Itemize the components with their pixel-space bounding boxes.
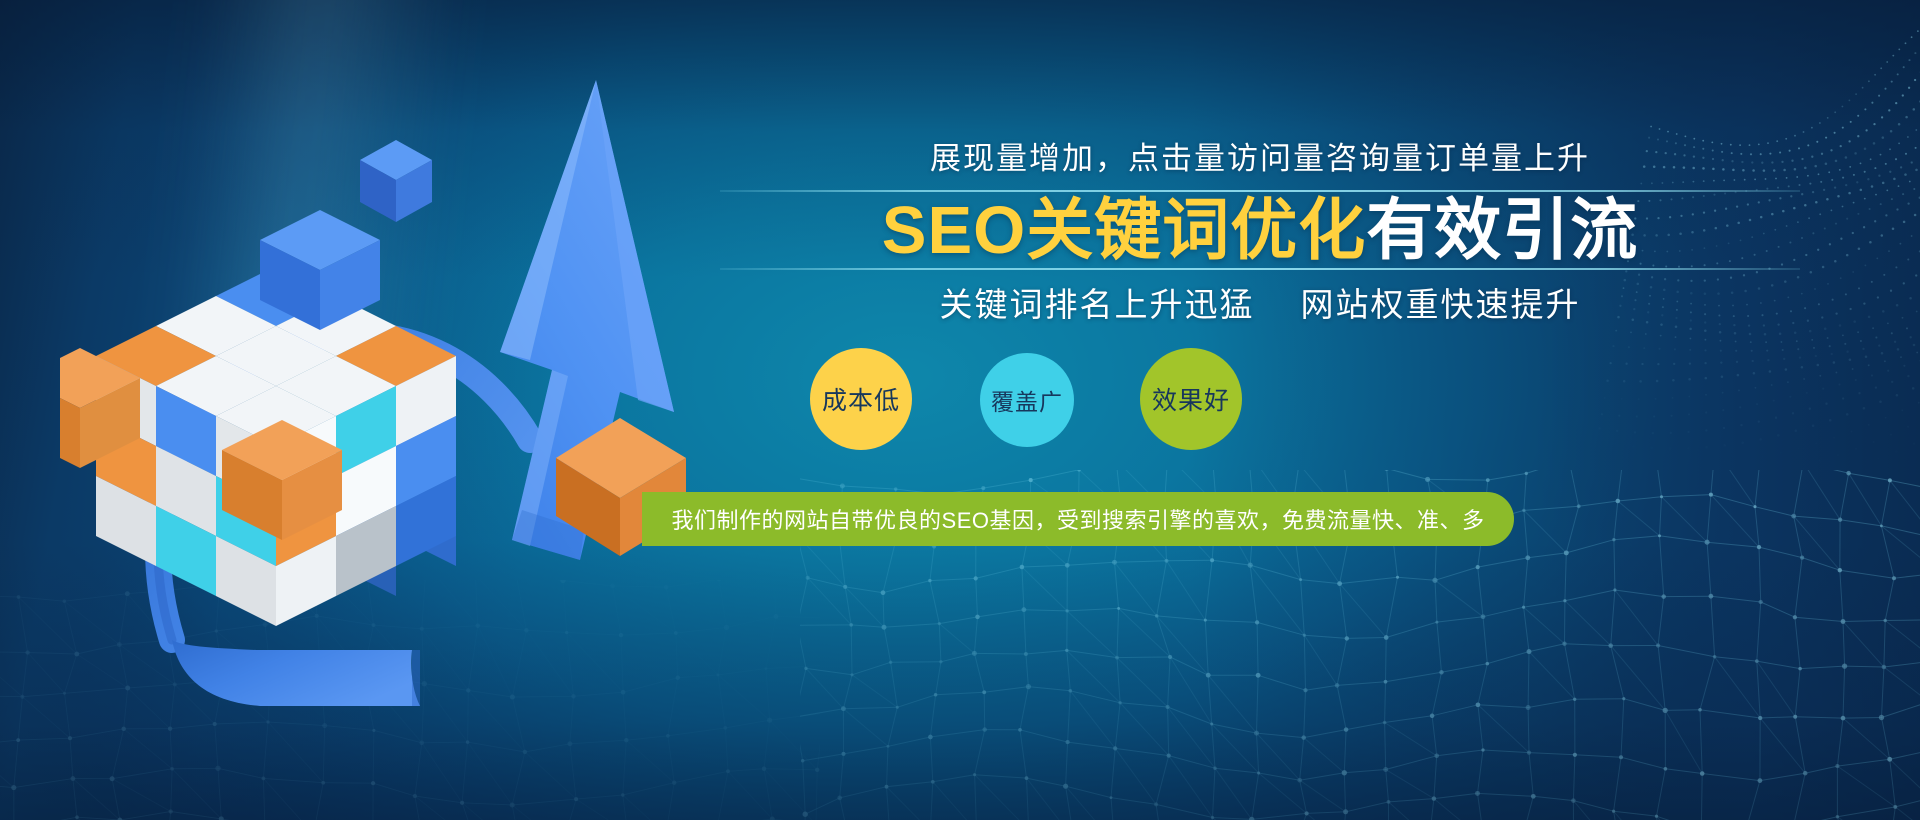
- headline-accent: SEO关键词优化: [882, 193, 1367, 268]
- subline: 关键词排名上升迅猛网站权重快速提升: [720, 278, 1800, 326]
- divider-bottom: [720, 268, 1800, 270]
- floating-cube-blue: [360, 140, 432, 222]
- seo-growth-artwork: [60, 40, 760, 780]
- subline-right: 网站权重快速提升: [1301, 286, 1581, 323]
- rubiks-cube-cluster: [60, 210, 456, 626]
- subline-left: 关键词排名上升迅猛: [940, 286, 1255, 323]
- footer-highlight-text: 我们制作的网站自带优良的SEO基因，受到搜索引擎的喜欢，免费流量快、准、多: [672, 503, 1485, 535]
- divider-top: [720, 190, 1800, 192]
- tagline: 展现量增加，点击量访问量咨询量订单量上升: [720, 140, 1800, 177]
- headline: SEO关键词优化有效引流: [720, 196, 1800, 266]
- seo-promo-banner: 展现量增加，点击量访问量咨询量订单量上升 SEO关键词优化有效引流 关键词排名上…: [0, 0, 1920, 820]
- headline-plain: 有效引流: [1366, 193, 1638, 268]
- benefit-bubble-result-label: 效果好: [1152, 381, 1230, 417]
- benefit-bubble-cost-label: 成本低: [822, 381, 900, 417]
- footer-highlight-bar: 我们制作的网站自带优良的SEO基因，受到搜索引擎的喜欢，免费流量快、准、多: [642, 492, 1514, 546]
- benefit-bubble-coverage[interactable]: 覆盖广: [980, 353, 1074, 447]
- benefit-bubble-coverage-label: 覆盖广: [991, 383, 1063, 417]
- benefit-bubble-cost[interactable]: 成本低: [810, 348, 912, 450]
- banner-content: 展现量增加，点击量访问量咨询量订单量上升 SEO关键词优化有效引流 关键词排名上…: [720, 0, 1910, 820]
- benefit-bubbles: 成本低 覆盖广 效果好: [790, 348, 1390, 468]
- benefit-bubble-result[interactable]: 效果好: [1140, 348, 1242, 450]
